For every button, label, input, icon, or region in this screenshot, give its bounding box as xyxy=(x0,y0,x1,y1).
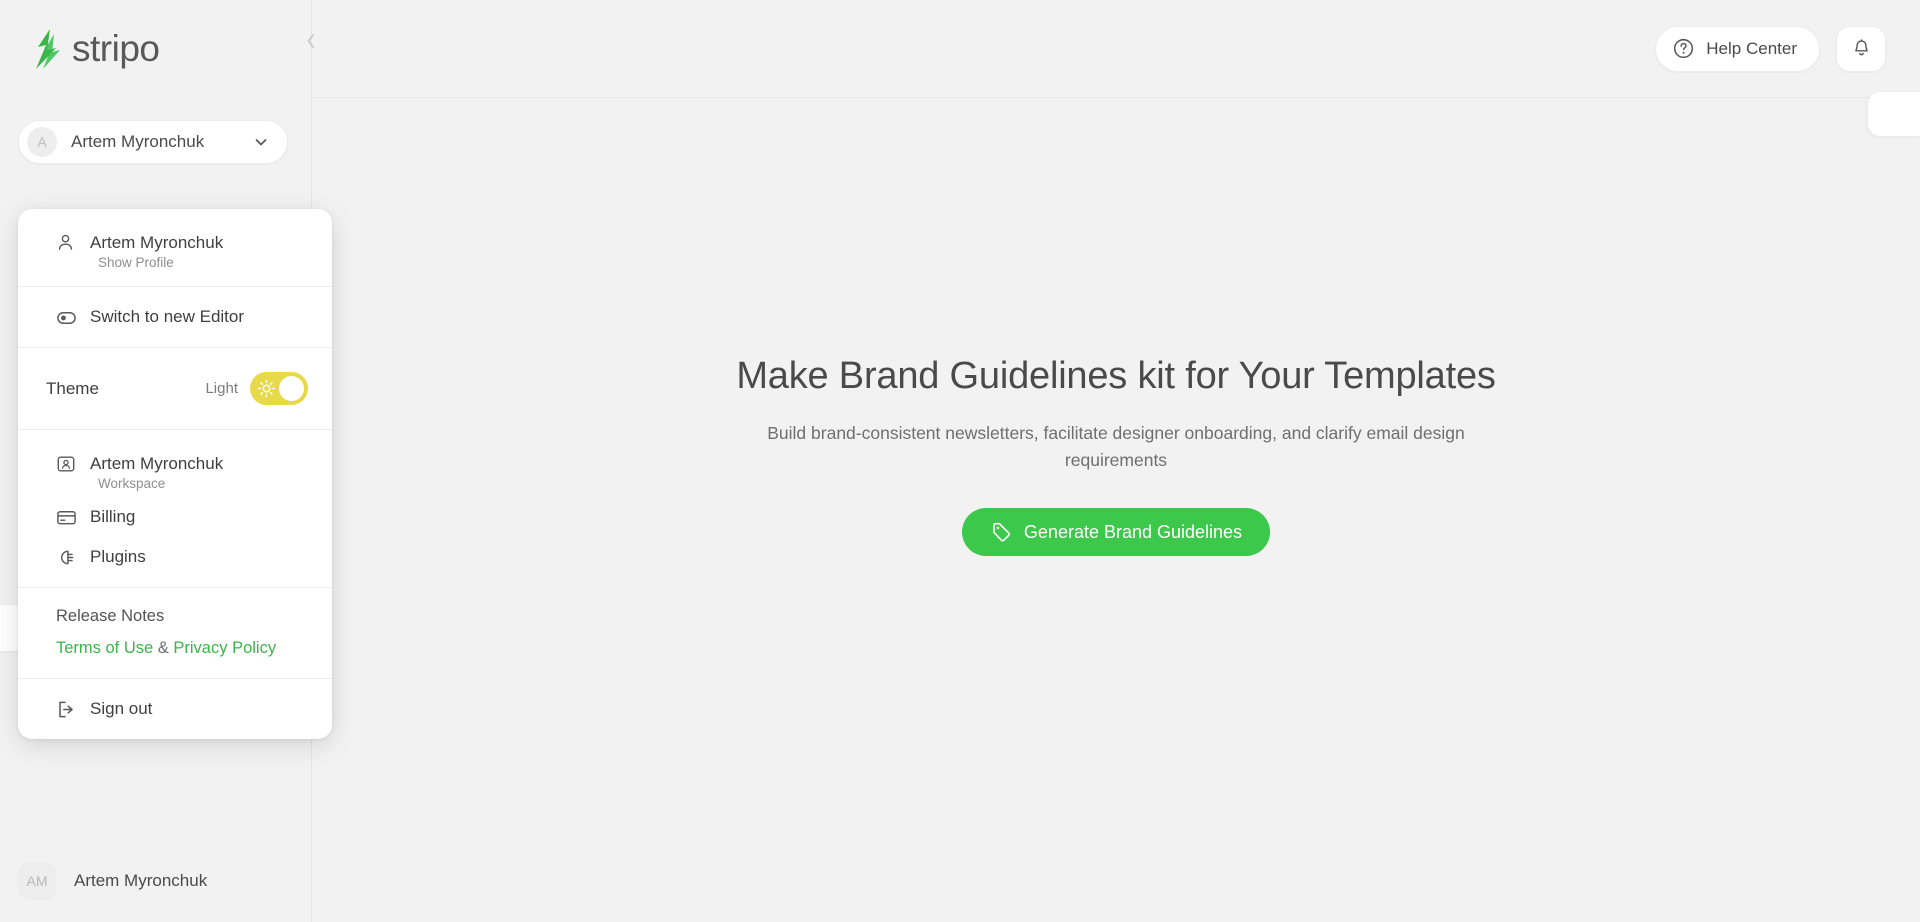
legal-links-row: Terms of Use & Privacy Policy xyxy=(18,635,332,668)
generate-brand-guidelines-label: Generate Brand Guidelines xyxy=(1024,522,1242,543)
question-mark-icon xyxy=(1672,37,1695,60)
menu-item-profile-label: Artem Myronchuk xyxy=(90,233,223,253)
workspace-card-icon xyxy=(56,454,82,474)
menu-item-show-profile[interactable]: Show Profile xyxy=(18,255,332,276)
bell-icon xyxy=(1851,38,1872,59)
menu-item-sign-out-label: Sign out xyxy=(90,699,152,719)
menu-item-switch-editor-label: Switch to new Editor xyxy=(90,307,244,327)
menu-section-profile: Artem Myronchuk Show Profile xyxy=(18,209,332,286)
legal-separator: & xyxy=(158,639,169,657)
sidebar-user-footer[interactable]: AM Artem Myronchuk xyxy=(18,862,207,900)
sign-out-icon xyxy=(56,699,82,720)
workspace-selector[interactable]: A Artem Myronchuk xyxy=(18,120,288,164)
terms-of-use-link[interactable]: Terms of Use xyxy=(56,639,153,657)
menu-item-plugins[interactable]: Plugins xyxy=(18,537,332,577)
toggle-icon xyxy=(56,307,82,328)
plug-icon xyxy=(56,547,82,568)
sidebar-collapse-button[interactable] xyxy=(302,28,319,54)
menu-item-plugins-label: Plugins xyxy=(90,547,146,567)
theme-label: Theme xyxy=(46,379,205,399)
workspace-name: Artem Myronchuk xyxy=(71,132,253,152)
right-panel-peek[interactable] xyxy=(1868,92,1920,136)
privacy-policy-link[interactable]: Privacy Policy xyxy=(173,639,276,657)
user-icon xyxy=(56,233,82,252)
theme-toggle-switch[interactable] xyxy=(250,372,308,405)
top-header: Help Center xyxy=(312,0,1920,98)
notifications-button[interactable] xyxy=(1836,26,1886,72)
brand-kit-icon xyxy=(990,521,1013,544)
generate-brand-guidelines-button[interactable]: Generate Brand Guidelines xyxy=(962,508,1270,556)
help-center-button[interactable]: Help Center xyxy=(1655,26,1820,72)
theme-setting-row: Theme Light xyxy=(18,358,332,419)
menu-item-sign-out[interactable]: Sign out xyxy=(18,689,332,729)
menu-section-editor: Switch to new Editor xyxy=(18,286,332,347)
sidebar-user-name: Artem Myronchuk xyxy=(74,871,207,891)
avatar: AM xyxy=(18,862,56,900)
theme-toggle-knob xyxy=(279,376,304,401)
user-dropdown-menu: Artem Myronchuk Show Profile Switch to n… xyxy=(18,209,332,739)
menu-section-theme: Theme Light xyxy=(18,347,332,429)
menu-item-workspace-subtitle: Workspace xyxy=(18,476,332,497)
menu-section-workspace: Artem Myronchuk Workspace Billing Plugin… xyxy=(18,429,332,587)
menu-section-legal: Release Notes Terms of Use & Privacy Pol… xyxy=(18,587,332,678)
logo-wordmark: stripo xyxy=(72,28,159,70)
menu-section-signout: Sign out xyxy=(18,678,332,739)
hero-section: Make Brand Guidelines kit for Your Templ… xyxy=(312,355,1920,556)
app-logo[interactable]: stripo xyxy=(0,0,311,98)
menu-item-switch-editor[interactable]: Switch to new Editor xyxy=(18,297,332,337)
workspace-avatar: A xyxy=(27,127,57,157)
credit-card-icon xyxy=(56,507,82,528)
menu-item-release-notes-label: Release Notes xyxy=(56,607,164,625)
menu-item-workspace[interactable]: Artem Myronchuk xyxy=(18,440,332,480)
theme-mode-value: Light xyxy=(205,380,238,397)
sun-icon xyxy=(257,379,276,398)
main-content: Help Center Make Brand Guidelines kit fo… xyxy=(312,0,1920,922)
app-root: stripo A Artem Myronchuk AM Artem Myronc… xyxy=(0,0,1920,922)
menu-item-release-notes[interactable]: Release Notes xyxy=(18,598,332,635)
menu-item-billing-label: Billing xyxy=(90,507,135,527)
help-center-label: Help Center xyxy=(1706,39,1797,59)
menu-item-workspace-label: Artem Myronchuk xyxy=(90,454,223,474)
page-title: Make Brand Guidelines kit for Your Templ… xyxy=(736,355,1495,398)
stripo-logo-icon xyxy=(30,28,64,70)
chevron-down-icon xyxy=(253,134,269,150)
page-subtitle: Build brand-consistent newsletters, faci… xyxy=(766,420,1466,474)
menu-item-billing[interactable]: Billing xyxy=(18,497,332,537)
menu-item-profile[interactable]: Artem Myronchuk xyxy=(18,219,332,259)
